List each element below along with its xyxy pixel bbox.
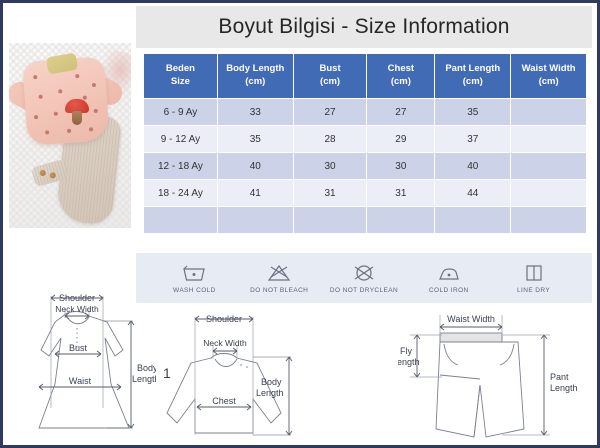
header-line1: Beden [166, 63, 195, 74]
pant-waist-width-label: Waist Width [447, 314, 495, 324]
cell-bust [294, 207, 367, 233]
cuff-button [49, 172, 56, 179]
care-item-cold-iron: COLD IRON [406, 263, 491, 294]
header-line1: Chest [388, 63, 414, 74]
cell-body-length: 35 [218, 126, 293, 152]
care-label: WASH COLD [173, 287, 216, 294]
size-table: Beden Size Body Length (cm) Bust (cm) Ch… [143, 53, 587, 234]
cell-chest: 27 [367, 99, 434, 125]
header-beden-size: Beden Size [144, 54, 217, 98]
cell-body-length: 40 [218, 153, 293, 179]
care-label: COLD IRON [429, 287, 469, 294]
header-line1: Bust [320, 63, 341, 74]
no-bleach-triangle-icon [266, 263, 292, 283]
cell-bust: 31 [294, 180, 367, 206]
cell-chest [367, 207, 434, 233]
cell-waist-width [511, 207, 586, 233]
cell-pant-length: 40 [435, 153, 510, 179]
table-row: 6 - 9 Ay 33 27 27 35 [144, 99, 586, 125]
care-label: LINE DRY [517, 287, 550, 294]
pant-fly-length-label-2: Length [398, 357, 420, 367]
header-waist-width: Waist Width (cm) [511, 54, 586, 98]
top-shoulder-label: Shoulder [206, 314, 242, 324]
cell-chest: 31 [367, 180, 434, 206]
cell-size [144, 207, 217, 233]
page-title: Boyut Bilgisi - Size Information [218, 15, 509, 39]
dress-waist-label: Waist [69, 376, 92, 386]
care-label: DO NOT BLEACH [250, 287, 308, 294]
product-photo [3, 3, 136, 235]
mushroom-applique-icon [65, 99, 89, 125]
cell-waist-width [511, 180, 586, 206]
dress-neck-width-label: Neck Width [55, 304, 99, 314]
pant-length-label-2: Length [550, 383, 578, 393]
dress-shoulder-label: Shoulder [59, 293, 95, 303]
header-line2: Size [171, 76, 190, 87]
care-item-wash-cold: WASH COLD [152, 263, 237, 294]
cell-size: 6 - 9 Ay [144, 99, 217, 125]
care-symbols-band: WASH COLD DO NOT BLEACH DO NOT DRYCLEAN [136, 253, 592, 303]
product-photo-image [9, 43, 131, 228]
table-row: 9 - 12 Ay 35 28 29 37 [144, 126, 586, 152]
wash-tub-icon [181, 263, 207, 283]
cell-pant-length [435, 207, 510, 233]
cell-body-length: 41 [218, 180, 293, 206]
dress-measurement-diagram: Shoulder Neck Width Bust Waist [11, 288, 156, 446]
header-line1: Pant Length [445, 63, 500, 74]
header-body-length: Body Length (cm) [218, 54, 293, 98]
pant-fly-length-label-1: Fly [400, 346, 412, 356]
header-line2: (cm) [245, 76, 265, 87]
line-dry-square-icon [521, 263, 547, 283]
cell-waist-width [511, 126, 586, 152]
care-item-line-dry: LINE DRY [491, 263, 576, 294]
header-line1: Waist Width [522, 63, 576, 74]
cell-body-length: 33 [218, 99, 293, 125]
table-row: 18 - 24 Ay 41 31 31 44 [144, 180, 586, 206]
care-label: DO NOT DRYCLEAN [330, 287, 398, 294]
table-row: 12 - 18 Ay 40 30 30 40 [144, 153, 586, 179]
cell-size: 9 - 12 Ay [144, 126, 217, 152]
dress-bust-label: Bust [69, 343, 88, 353]
care-item-no-dryclean: DO NOT DRYCLEAN [322, 263, 407, 294]
header-chest: Chest (cm) [367, 54, 434, 98]
header-line1: Body Length [226, 63, 284, 74]
cell-chest: 29 [367, 126, 434, 152]
iron-icon [436, 263, 462, 283]
header-row: Beden Size Body Length (cm) Bust (cm) Ch… [144, 54, 586, 98]
size-table-head: Beden Size Body Length (cm) Bust (cm) Ch… [144, 54, 586, 98]
header-line2: (cm) [320, 76, 340, 87]
top-chest-label: Chest [212, 396, 236, 406]
header-bust: Bust (cm) [294, 54, 367, 98]
header-line2: (cm) [463, 76, 483, 87]
cell-bust: 28 [294, 126, 367, 152]
cell-pant-length: 35 [435, 99, 510, 125]
table-row-empty [144, 207, 586, 233]
cell-chest: 30 [367, 153, 434, 179]
header-line2: (cm) [539, 76, 559, 87]
cell-bust: 30 [294, 153, 367, 179]
top-body-length-label-2: Length [256, 388, 284, 398]
pant-measurement-diagram: Waist Width Fly Length Pant Length [398, 301, 598, 448]
cell-size: 12 - 18 Ay [144, 153, 217, 179]
header-pant-length: Pant Length (cm) [435, 54, 510, 98]
care-item-no-bleach: DO NOT BLEACH [237, 263, 322, 294]
cell-bust: 27 [294, 99, 367, 125]
title-band: Boyut Bilgisi - Size Information [136, 6, 592, 48]
no-dryclean-circle-icon [351, 263, 377, 283]
size-table-wrapper: Beden Size Body Length (cm) Bust (cm) Ch… [143, 53, 587, 234]
pant-length-label-1: Pant [550, 372, 569, 382]
top-diagram-number: 1 [163, 365, 171, 381]
cell-body-length [218, 207, 293, 233]
top-neck-width-label: Neck Width [203, 338, 247, 348]
cell-waist-width [511, 99, 586, 125]
cell-waist-width [511, 153, 586, 179]
size-chart-page: Boyut Bilgisi - Size Information Beden S… [0, 0, 600, 448]
size-table-body: 6 - 9 Ay 33 27 27 35 9 - 12 Ay 35 28 29 … [144, 99, 586, 233]
cell-size: 18 - 24 Ay [144, 180, 217, 206]
header-line2: (cm) [391, 76, 411, 87]
top-body-length-label-1: Body [261, 377, 282, 387]
cuff-button [39, 169, 46, 176]
top-measurement-diagram: 1 Shoulder [153, 303, 308, 448]
cell-pant-length: 44 [435, 180, 510, 206]
cell-pant-length: 37 [435, 126, 510, 152]
